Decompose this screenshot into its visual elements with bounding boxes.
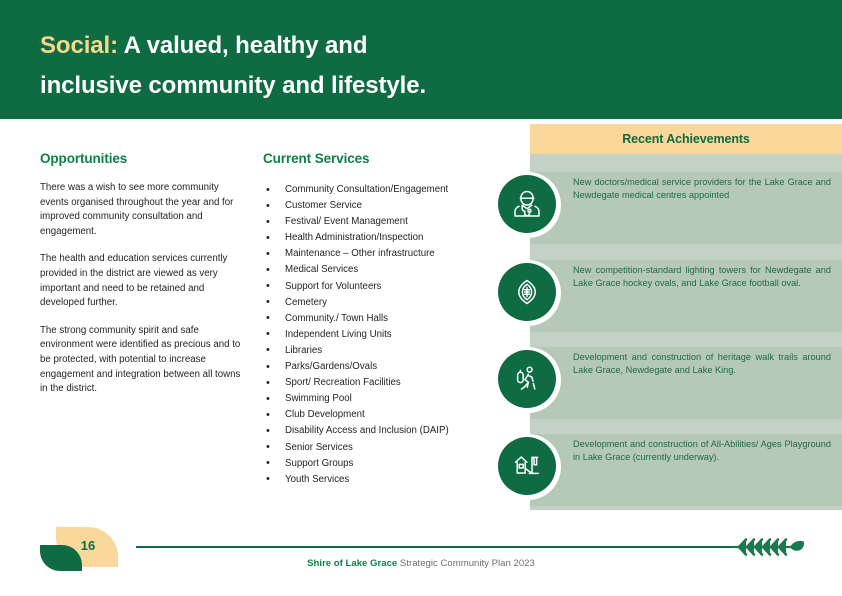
- list-item: Festival/ Event Management: [263, 214, 488, 230]
- list-item: Swimming Pool: [263, 391, 488, 407]
- achievement-item: New doctors/medical service providers fo…: [530, 172, 842, 244]
- page-title: Social: A valued, healthy and inclusive …: [40, 26, 680, 106]
- list-item: Maintenance – Other infrastructure: [263, 246, 488, 262]
- band-gap: [530, 506, 842, 510]
- achievement-icon-ring: [495, 347, 561, 413]
- recent-achievements-panel: Recent Achievements: [530, 124, 842, 510]
- band-gap: [530, 419, 842, 434]
- football-icon: [498, 263, 556, 321]
- band-gap: [530, 244, 842, 260]
- list-item: Community Consultation/Engagement: [263, 182, 488, 198]
- footer-divider: [136, 546, 802, 548]
- achievement-item: Development and construction of All-Abil…: [530, 434, 842, 506]
- page-number: 16: [66, 538, 110, 553]
- opportunities-heading: Opportunities: [40, 151, 127, 166]
- wheat-stalk-icon: [732, 530, 808, 564]
- band-gap: [530, 332, 842, 347]
- list-item: Disability Access and Inclusion (DAIP): [263, 423, 488, 439]
- footer-subtitle: Strategic Community Plan 2023: [397, 558, 535, 569]
- list-item: Youth Services: [263, 472, 488, 488]
- list-item: Support Groups: [263, 456, 488, 472]
- page-title-line2: inclusive community and lifestyle.: [40, 72, 426, 99]
- list-item: Libraries: [263, 343, 488, 359]
- footer-caption: Shire of Lake Grace Strategic Community …: [0, 558, 842, 569]
- achievement-icon-ring: [495, 172, 561, 238]
- list-item: Parks/Gardens/Ovals: [263, 359, 488, 375]
- list-item: Support for Volunteers: [263, 279, 488, 295]
- list-item: Club Development: [263, 407, 488, 423]
- list-item: Senior Services: [263, 440, 488, 456]
- achievement-text: New doctors/medical service providers fo…: [573, 176, 831, 201]
- band-gap: [530, 154, 842, 172]
- playground-icon: [498, 437, 556, 495]
- achievement-item: Development and construction of heritage…: [530, 347, 842, 419]
- list-item: Health Administration/Inspection: [263, 230, 488, 246]
- opportunities-paragraph: The strong community spirit and safe env…: [40, 324, 245, 397]
- page-title-highlight: Social:: [40, 32, 118, 59]
- achievement-text: Development and construction of heritage…: [573, 351, 831, 376]
- list-item: Community./ Town Halls: [263, 311, 488, 327]
- page-title-line1: A valued, healthy and: [118, 32, 367, 59]
- footer-brand: Shire of Lake Grace: [307, 558, 397, 569]
- doctor-icon: [498, 175, 556, 233]
- recent-achievements-title: Recent Achievements: [530, 124, 842, 154]
- achievement-text: New competition-standard lighting towers…: [573, 264, 831, 289]
- achievement-text: Development and construction of All-Abil…: [573, 438, 831, 463]
- achievement-icon-ring: [495, 434, 561, 500]
- list-item: Customer Service: [263, 198, 488, 214]
- current-services-list: Community Consultation/Engagement Custom…: [263, 182, 488, 488]
- current-services-heading: Current Services: [263, 151, 369, 166]
- list-item: Cemetery: [263, 295, 488, 311]
- achievement-item: New competition-standard lighting towers…: [530, 260, 842, 332]
- hiker-icon: [498, 350, 556, 408]
- opportunities-paragraph: There was a wish to see more community e…: [40, 181, 245, 239]
- opportunities-body: There was a wish to see more community e…: [40, 181, 245, 410]
- opportunities-paragraph: The health and education services curren…: [40, 252, 245, 310]
- list-item: Sport/ Recreation Facilities: [263, 375, 488, 391]
- achievement-icon-ring: [495, 260, 561, 326]
- list-item: Independent Living Units: [263, 327, 488, 343]
- list-item: Medical Services: [263, 262, 488, 278]
